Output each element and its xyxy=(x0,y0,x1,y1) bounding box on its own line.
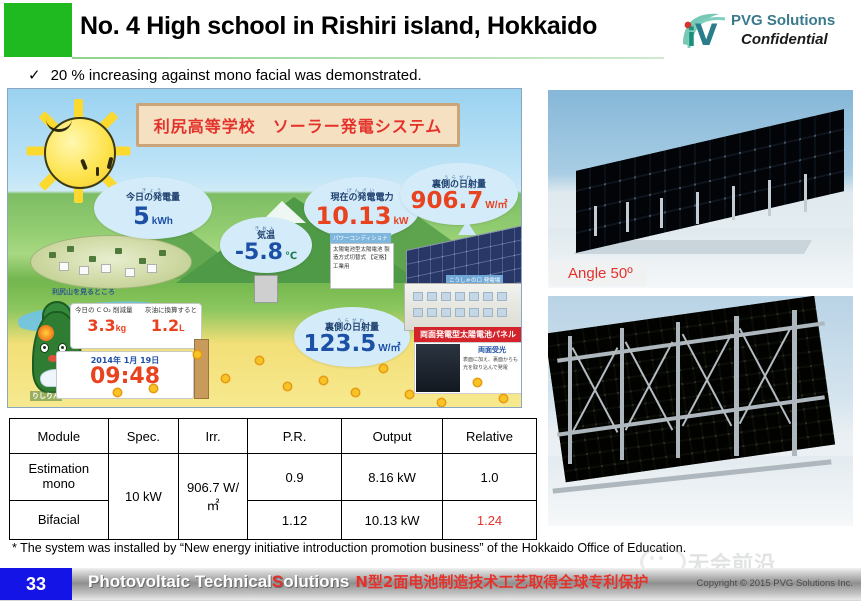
school-building-illustration xyxy=(404,283,522,331)
infographic-title-banner: 利尻高等学校 ソーラー発電システム xyxy=(136,103,460,147)
cell-relative-bifacial: 1.24 xyxy=(443,501,537,540)
bubble-unit: W/㎡ xyxy=(378,339,400,354)
col-irr: Irr. xyxy=(179,419,248,454)
logo-confidential-label: Confidential xyxy=(741,31,828,48)
title-underline xyxy=(72,57,664,59)
co2-unit-right: L xyxy=(179,323,185,333)
bubble-value: 906.7 xyxy=(411,190,484,213)
logo-company-name: PVG Solutions xyxy=(731,12,835,29)
col-module: Module xyxy=(10,419,109,454)
bubble-today-generation: きょう 今日の発電量 5 kWh xyxy=(94,177,212,239)
bubble-unit: W/㎡ xyxy=(485,196,507,211)
cell-pr-bifacial: 1.12 xyxy=(247,501,341,540)
bifacial-title: 両面受光 xyxy=(463,345,521,355)
irradiance-arrow-icon xyxy=(458,221,476,235)
footer-tagline: Photovoltaic Technical S olutions N型2面电池… xyxy=(88,571,648,592)
cell-pr-mono: 0.9 xyxy=(247,454,341,501)
clock-panel: 2014年 1月 19日 09:48 xyxy=(56,351,194,399)
bifacial-banner: 両面発電型太陽電池パネル xyxy=(414,327,522,342)
bubble-temperature: きおん 気温 -5.8 ℃ xyxy=(220,217,312,273)
sun-face xyxy=(44,117,116,189)
bubble-value: 123.5 xyxy=(304,333,377,356)
bifacial-thumbnail xyxy=(416,344,460,392)
power-conditioner-tag: パワーコンディショナ xyxy=(330,233,391,243)
co2-value-left: 3.3 xyxy=(87,316,115,335)
footer-text-part1: Photovoltaic Technical xyxy=(88,572,272,592)
co2-value-right: 1.2 xyxy=(151,316,179,335)
table-row: Bifacial 1.12 10.13 kW 1.24 xyxy=(10,501,537,540)
bubble-rear-irradiance: うらがわ 裏側の日射量 123.5 W/㎡ xyxy=(294,307,410,367)
slide-header: No. 4 High school in Rishiri island, Hok… xyxy=(0,0,861,60)
bubble-value: 10.13 xyxy=(316,204,392,228)
cell-spec: 10 kW xyxy=(108,454,179,540)
page-title: No. 4 High school in Rishiri island, Hok… xyxy=(80,12,597,41)
table-header-row: Module Spec. Irr. P.R. Output Relative xyxy=(10,419,537,454)
footer-text-part2: olutions xyxy=(283,572,349,592)
flower-icon xyxy=(38,325,54,341)
footer-text-highlight: S xyxy=(272,572,283,592)
village-label: 利尻山を見るところ xyxy=(52,287,115,297)
spec-panel-text: 太陽電池型太陽電池 製造方式切替式 【定格】工業用 xyxy=(330,243,394,289)
bubble-unit: kW xyxy=(393,216,408,227)
cell-module-mono: Estimation mono xyxy=(10,454,109,501)
col-relative: Relative xyxy=(443,419,537,454)
snow-field-solar-array-photo: Angle 50º xyxy=(548,90,853,288)
bubble-unit: kWh xyxy=(152,216,173,227)
cell-output-mono: 8.16 kW xyxy=(342,454,443,501)
angle-label: Angle 50º xyxy=(550,261,647,286)
pvg-logo-icon: i V xyxy=(679,8,727,52)
infographic-title-text: 利尻高等学校 ソーラー発電システム xyxy=(154,113,443,137)
col-output: Output xyxy=(342,419,443,454)
col-pr: P.R. xyxy=(247,419,341,454)
pvg-logo-block: i V PVG Solutions Confidential xyxy=(679,8,855,56)
footnote-text: * The system was installed by “New energ… xyxy=(12,541,686,555)
copyright-text: Copyright © 2015 PVG Solutions Inc. xyxy=(697,578,853,589)
bubble-front-irradiance: うらがわ 裏側の日射量 906.7 W/㎡ xyxy=(400,163,518,225)
table-row: Estimation mono 10 kW 906.7 W/㎡ 0.9 8.16… xyxy=(10,454,537,501)
signpost-post xyxy=(194,339,209,399)
solar-monitor-infographic: 利尻山を見るところ りしりん 利尻高等学校 ソーラー発電システム きょう 今日の… xyxy=(7,88,522,408)
page-number-box: 33 xyxy=(0,568,72,600)
bubble-value: 5 xyxy=(133,204,150,228)
cell-output-bifacial: 10.13 kW xyxy=(342,501,443,540)
bifacial-callout-card: 両面受光 表面に加え、裏面からも 光を取り込んで発電 xyxy=(414,342,522,394)
page-number: 33 xyxy=(26,574,46,595)
subtitle-row: ✓ 20 % increasing against mono facial wa… xyxy=(28,64,422,86)
village-illustration xyxy=(30,235,192,289)
footer-chinese-text: N型2面电池制造技术工艺取得全球专利保护 xyxy=(355,571,648,592)
cell-module-bifacial: Bifacial xyxy=(10,501,109,540)
comparison-table: Module Spec. Irr. P.R. Output Relative E… xyxy=(9,418,537,540)
bifacial-description: 表面に加え、裏面からも 光を取り込んで発電 xyxy=(463,357,521,372)
clock-time: 09:48 xyxy=(57,366,193,388)
co2-label-right: 灰油に換算すると xyxy=(145,307,197,314)
co2-reduction-panel: 今日の C O₂ 削減量 灰油に換算すると 3.3kg 1.2L xyxy=(70,303,202,349)
co2-unit-left: kg xyxy=(116,323,127,333)
cell-relative-mono: 1.0 xyxy=(443,454,537,501)
bubble-value: -5.8 xyxy=(235,242,283,264)
green-accent-square xyxy=(4,3,72,57)
bifacial-array-rear-view-photo xyxy=(548,296,853,526)
subtitle-text: 20 % increasing against mono facial was … xyxy=(51,67,422,84)
cell-irr: 906.7 W/㎡ xyxy=(179,454,248,540)
inverter-box-illustration xyxy=(254,275,278,303)
col-spec: Spec. xyxy=(108,419,179,454)
bubble-unit: ℃ xyxy=(285,251,297,262)
co2-label-left: 今日の C O₂ 削減量 xyxy=(75,307,132,314)
checkmark-icon: ✓ xyxy=(28,66,41,84)
svg-text:V: V xyxy=(695,18,718,52)
